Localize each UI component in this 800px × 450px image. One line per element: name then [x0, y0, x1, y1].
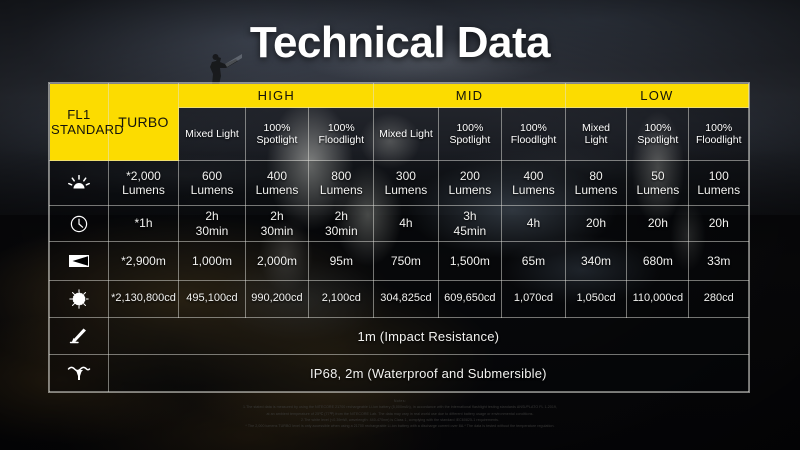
subheader-mid-mixed: Mixed Light [374, 108, 438, 161]
subheader-high-spotlight: 100%Spotlight [245, 108, 309, 161]
cell-runtime-mid-spotlight: 3h45min [438, 206, 502, 242]
cell-lumens-low-mixed: 80Lumens [565, 161, 627, 206]
cell-distance-mid-spotlight: 1,500m [438, 242, 502, 281]
cell-runtime-mid-floodlight: 4h [502, 206, 566, 242]
cell-intensity-mid-floodlight: 1,070cd [502, 281, 566, 318]
cell-intensity-high-spotlight: 990,200cd [245, 281, 309, 318]
cell-intensity-low-spotlight: 110,000cd [627, 281, 689, 318]
cell-distance-high-mixed: 1,000m [179, 242, 245, 281]
subheader-high-floodlight: 100%Floodlight [309, 108, 374, 161]
fl1-line1: FL1 [67, 107, 90, 122]
impact-resistance-icon [50, 318, 109, 355]
turbo-column-header: TURBO [108, 84, 179, 161]
lumens-icon [50, 161, 109, 206]
cell-lumens-low-spotlight: 50Lumens [627, 161, 689, 206]
subheader-mid-floodlight: 100%Floodlight [502, 108, 566, 161]
table-row-lumens: *2,000Lumens 600Lumens 400Lumens 800Lume… [50, 161, 749, 206]
cell-intensity-turbo: *2,130,800cd [108, 281, 179, 318]
cell-lumens-high-spotlight: 400Lumens [245, 161, 309, 206]
cell-runtime-high-spotlight: 2h30min [245, 206, 309, 242]
table-row-peak-beam-intensity: *2,130,800cd 495,100cd 990,200cd 2,100cd… [50, 281, 749, 318]
subheader-low-spotlight: 100%Spotlight [627, 108, 689, 161]
cell-intensity-low-floodlight: 280cd [689, 281, 749, 318]
table-row-runtime: *1h 2h30min 2h30min 2h30min 4h 3h45min 4… [50, 206, 749, 242]
cell-intensity-high-floodlight: 2,100cd [309, 281, 374, 318]
cell-intensity-high-mixed: 495,100cd [179, 281, 245, 318]
subheader-low-mixed: MixedLight [565, 108, 627, 161]
table-row-impact-resistance: 1m (Impact Resistance) [50, 318, 749, 355]
table-row-beam-distance: *2,900m 1,000m 2,000m 95m 750m 1,500m 65… [50, 242, 749, 281]
cell-runtime-high-mixed: 2h30min [179, 206, 245, 242]
fl1-line2: STANDARD [51, 122, 124, 137]
technical-data-table-container: FL1 STANDARD TURBO HIGH MID LOW Mixed Li… [48, 82, 750, 393]
page-title: Technical Data [0, 18, 800, 68]
cell-distance-high-spotlight: 2,000m [245, 242, 309, 281]
cell-impact-resistance-value: 1m (Impact Resistance) [108, 318, 748, 355]
cell-distance-mid-mixed: 750m [374, 242, 438, 281]
cell-lumens-high-mixed: 600Lumens [179, 161, 245, 206]
fl1-standard-header: FL1 STANDARD [50, 84, 109, 161]
group-header-low: LOW [565, 84, 748, 108]
subheader-mid-spotlight: 100%Spotlight [438, 108, 502, 161]
cell-lumens-mid-floodlight: 400Lumens [502, 161, 566, 206]
cell-distance-turbo: *2,900m [108, 242, 179, 281]
cell-runtime-high-floodlight: 2h30min [309, 206, 374, 242]
subheader-high-mixed: Mixed Light [179, 108, 245, 161]
technical-data-table: FL1 STANDARD TURBO HIGH MID LOW Mixed Li… [49, 83, 749, 392]
cell-distance-low-spotlight: 680m [627, 242, 689, 281]
table-row-waterproof: IP68, 2m (Waterproof and Submersible) [50, 355, 749, 392]
runtime-clock-icon [50, 206, 109, 242]
table-group-header-row: FL1 STANDARD TURBO HIGH MID LOW [50, 84, 749, 108]
cell-runtime-low-mixed: 20h [565, 206, 627, 242]
cell-distance-low-mixed: 340m [565, 242, 627, 281]
subheader-low-floodlight: 100%Floodlight [689, 108, 749, 161]
beam-distance-icon [50, 242, 109, 281]
cell-intensity-low-mixed: 1,050cd [565, 281, 627, 318]
cell-distance-mid-floodlight: 65m [502, 242, 566, 281]
cell-runtime-low-floodlight: 20h [689, 206, 749, 242]
cell-runtime-turbo: *1h [108, 206, 179, 242]
cell-lumens-mid-mixed: 300Lumens [374, 161, 438, 206]
cell-intensity-mid-mixed: 304,825cd [374, 281, 438, 318]
cell-lumens-mid-spotlight: 200Lumens [438, 161, 502, 206]
group-header-mid: MID [374, 84, 565, 108]
cell-intensity-mid-spotlight: 609,650cd [438, 281, 502, 318]
cell-runtime-low-spotlight: 20h [627, 206, 689, 242]
cell-lumens-turbo: *2,000Lumens [108, 161, 179, 206]
cell-waterproof-value: IP68, 2m (Waterproof and Submersible) [108, 355, 748, 392]
cell-distance-high-floodlight: 95m [309, 242, 374, 281]
cell-distance-low-floodlight: 33m [689, 242, 749, 281]
cell-lumens-high-floodlight: 800Lumens [309, 161, 374, 206]
peak-beam-intensity-icon [50, 281, 109, 318]
footnotes: Notes: 1.The stated data is measured by … [60, 398, 740, 429]
group-header-high: HIGH [179, 84, 374, 108]
footnote-line-4: * The 2,000 lumens TURBO level is only a… [60, 423, 740, 429]
cell-lumens-low-floodlight: 100Lumens [689, 161, 749, 206]
cell-runtime-mid-mixed: 4h [374, 206, 438, 242]
waterproof-icon [50, 355, 109, 392]
